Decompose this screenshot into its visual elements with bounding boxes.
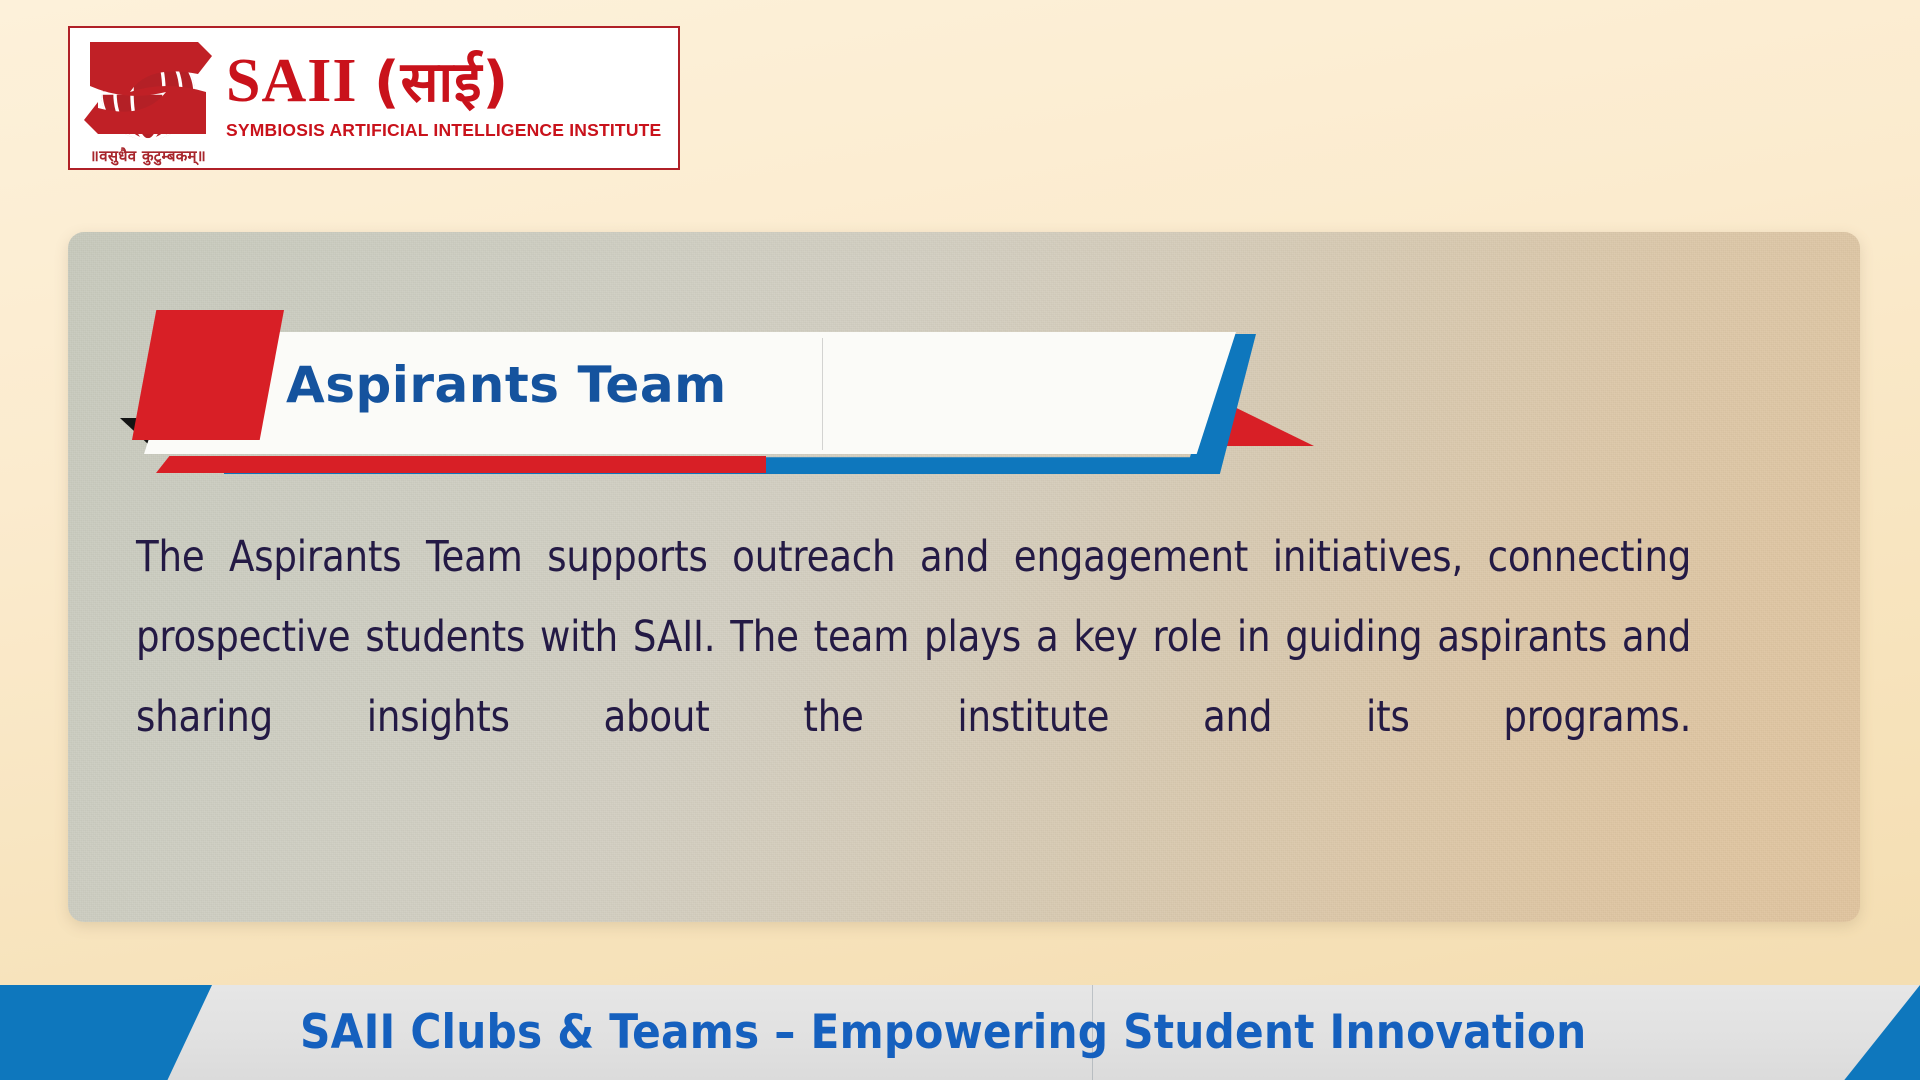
ribbon-divider-line (822, 338, 823, 450)
logo-title: SAII (साई) (226, 50, 678, 112)
logo-title-latin: SAII (226, 47, 358, 115)
slide-root: ॥वसुधैव कुटुम्बकम्॥ SAII (साई) SYMBIOSIS… (0, 0, 1920, 1080)
s-arrow-shape (90, 42, 206, 134)
footer-blue-left-shape (0, 985, 212, 1080)
ribbon-red-underline (156, 456, 766, 473)
footer-blue-right-shape (1834, 985, 1920, 1080)
logo-text-column: SAII (साई) SYMBIOSIS ARTIFICIAL INTELLIG… (220, 28, 678, 168)
footer-bar: SAII Clubs & Teams – Empowering Student … (0, 985, 1920, 1080)
content-card: Aspirants Team The Aspirants Team suppor… (68, 232, 1860, 922)
card-title: Aspirants Team (286, 356, 727, 414)
card-body-text: The Aspirants Team supports outreach and… (136, 517, 1691, 837)
globe-arrow-emblem-icon (78, 34, 218, 152)
logo-subtitle: SYMBIOSIS ARTIFICIAL INTELLIGENCE INSTIT… (226, 120, 678, 141)
title-ribbon: Aspirants Team (104, 310, 1314, 490)
logo-title-devanagari: (साई) (374, 50, 509, 115)
logo-emblem-area: ॥वसुधैव कुटुम्बकम्॥ (70, 28, 220, 168)
saii-logo: ॥वसुधैव कुटुम्बकम्॥ SAII (साई) SYMBIOSIS… (68, 26, 680, 170)
footer-caption: SAII Clubs & Teams – Empowering Student … (300, 985, 1586, 1080)
ribbon-red-block-shape (132, 310, 284, 440)
logo-motto: ॥वसुधैव कुटुम्बकम्॥ (74, 146, 222, 166)
